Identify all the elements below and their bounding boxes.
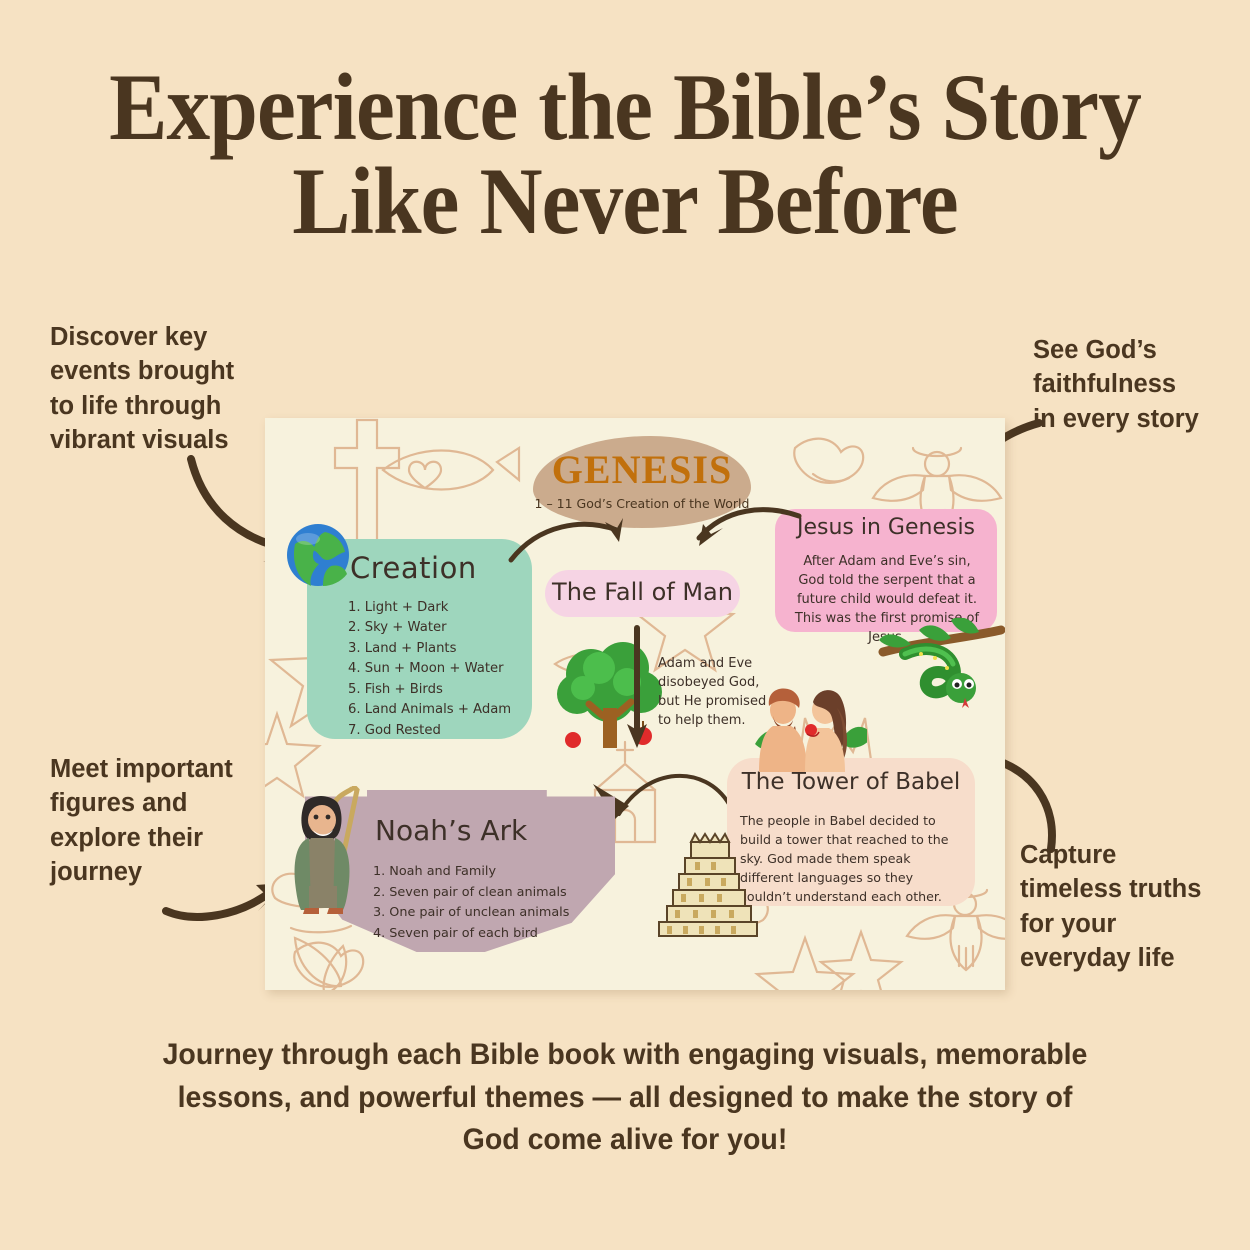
- jesus-in-genesis-title: Jesus in Genesis: [775, 515, 997, 540]
- list-item: 6. Land Animals + Adam: [348, 700, 548, 720]
- tower-of-babel-icon: [653, 818, 763, 946]
- book-title: GENESIS: [533, 446, 751, 493]
- list-item: 3. One pair of unclean animals: [373, 903, 603, 924]
- tower-of-babel-title: The Tower of Babel: [727, 769, 975, 795]
- list-item: 4. Seven pair of each bird: [373, 924, 603, 945]
- noahs-ark-list: 1. Noah and Family2. Seven pair of clean…: [373, 862, 603, 945]
- callout-see-gods-faithfulness: See God’s faithfulness in every story: [1033, 333, 1248, 436]
- noah-figure-icon: [283, 786, 363, 916]
- genesis-poster-card[interactable]: GENESIS 1 – 11 God’s Creation of the Wor…: [265, 418, 1005, 990]
- list-item: 2. Sky + Water: [348, 618, 548, 638]
- list-item: 5. Fish + Birds: [348, 680, 548, 700]
- list-item: 1. Light + Dark: [348, 598, 548, 618]
- callout-discover-key-events: Discover key events brought to life thro…: [50, 320, 300, 458]
- list-item: 4. Sun + Moon + Water: [348, 659, 548, 679]
- poster-arrow-creation-to-fall-icon: [505, 508, 625, 568]
- creation-title: Creation: [350, 551, 477, 585]
- poster-arrow-fall-to-jesus-icon: [695, 502, 805, 552]
- page-caption: Journey through each Bible book with eng…: [150, 1034, 1100, 1162]
- creation-list: 1. Light + Dark2. Sky + Water3. Land + P…: [348, 598, 548, 741]
- callout-meet-important-figures: Meet important figures and explore their…: [50, 752, 300, 890]
- tower-of-babel-text: The people in Babel decided to build a t…: [740, 812, 966, 906]
- list-item: 2. Seven pair of clean animals: [373, 883, 603, 904]
- noahs-ark-title: Noah’s Ark: [375, 814, 527, 847]
- list-item: 3. Land + Plants: [348, 639, 548, 659]
- poster-arrow-down-icon: [625, 624, 649, 752]
- list-item: 7. God Rested: [348, 721, 548, 741]
- fall-of-man-title: The Fall of Man: [545, 578, 740, 606]
- adam-and-eve-icon: [749, 686, 867, 772]
- callout-capture-timeless-truths: Capture timeless truths for your everyda…: [1020, 838, 1245, 976]
- earth-globe-icon: [285, 522, 351, 588]
- list-item: 1. Noah and Family: [373, 862, 603, 883]
- page-title: Experience the Bible’s Story Like Never …: [50, 60, 1200, 248]
- serpent-on-branch-icon: [865, 618, 1005, 710]
